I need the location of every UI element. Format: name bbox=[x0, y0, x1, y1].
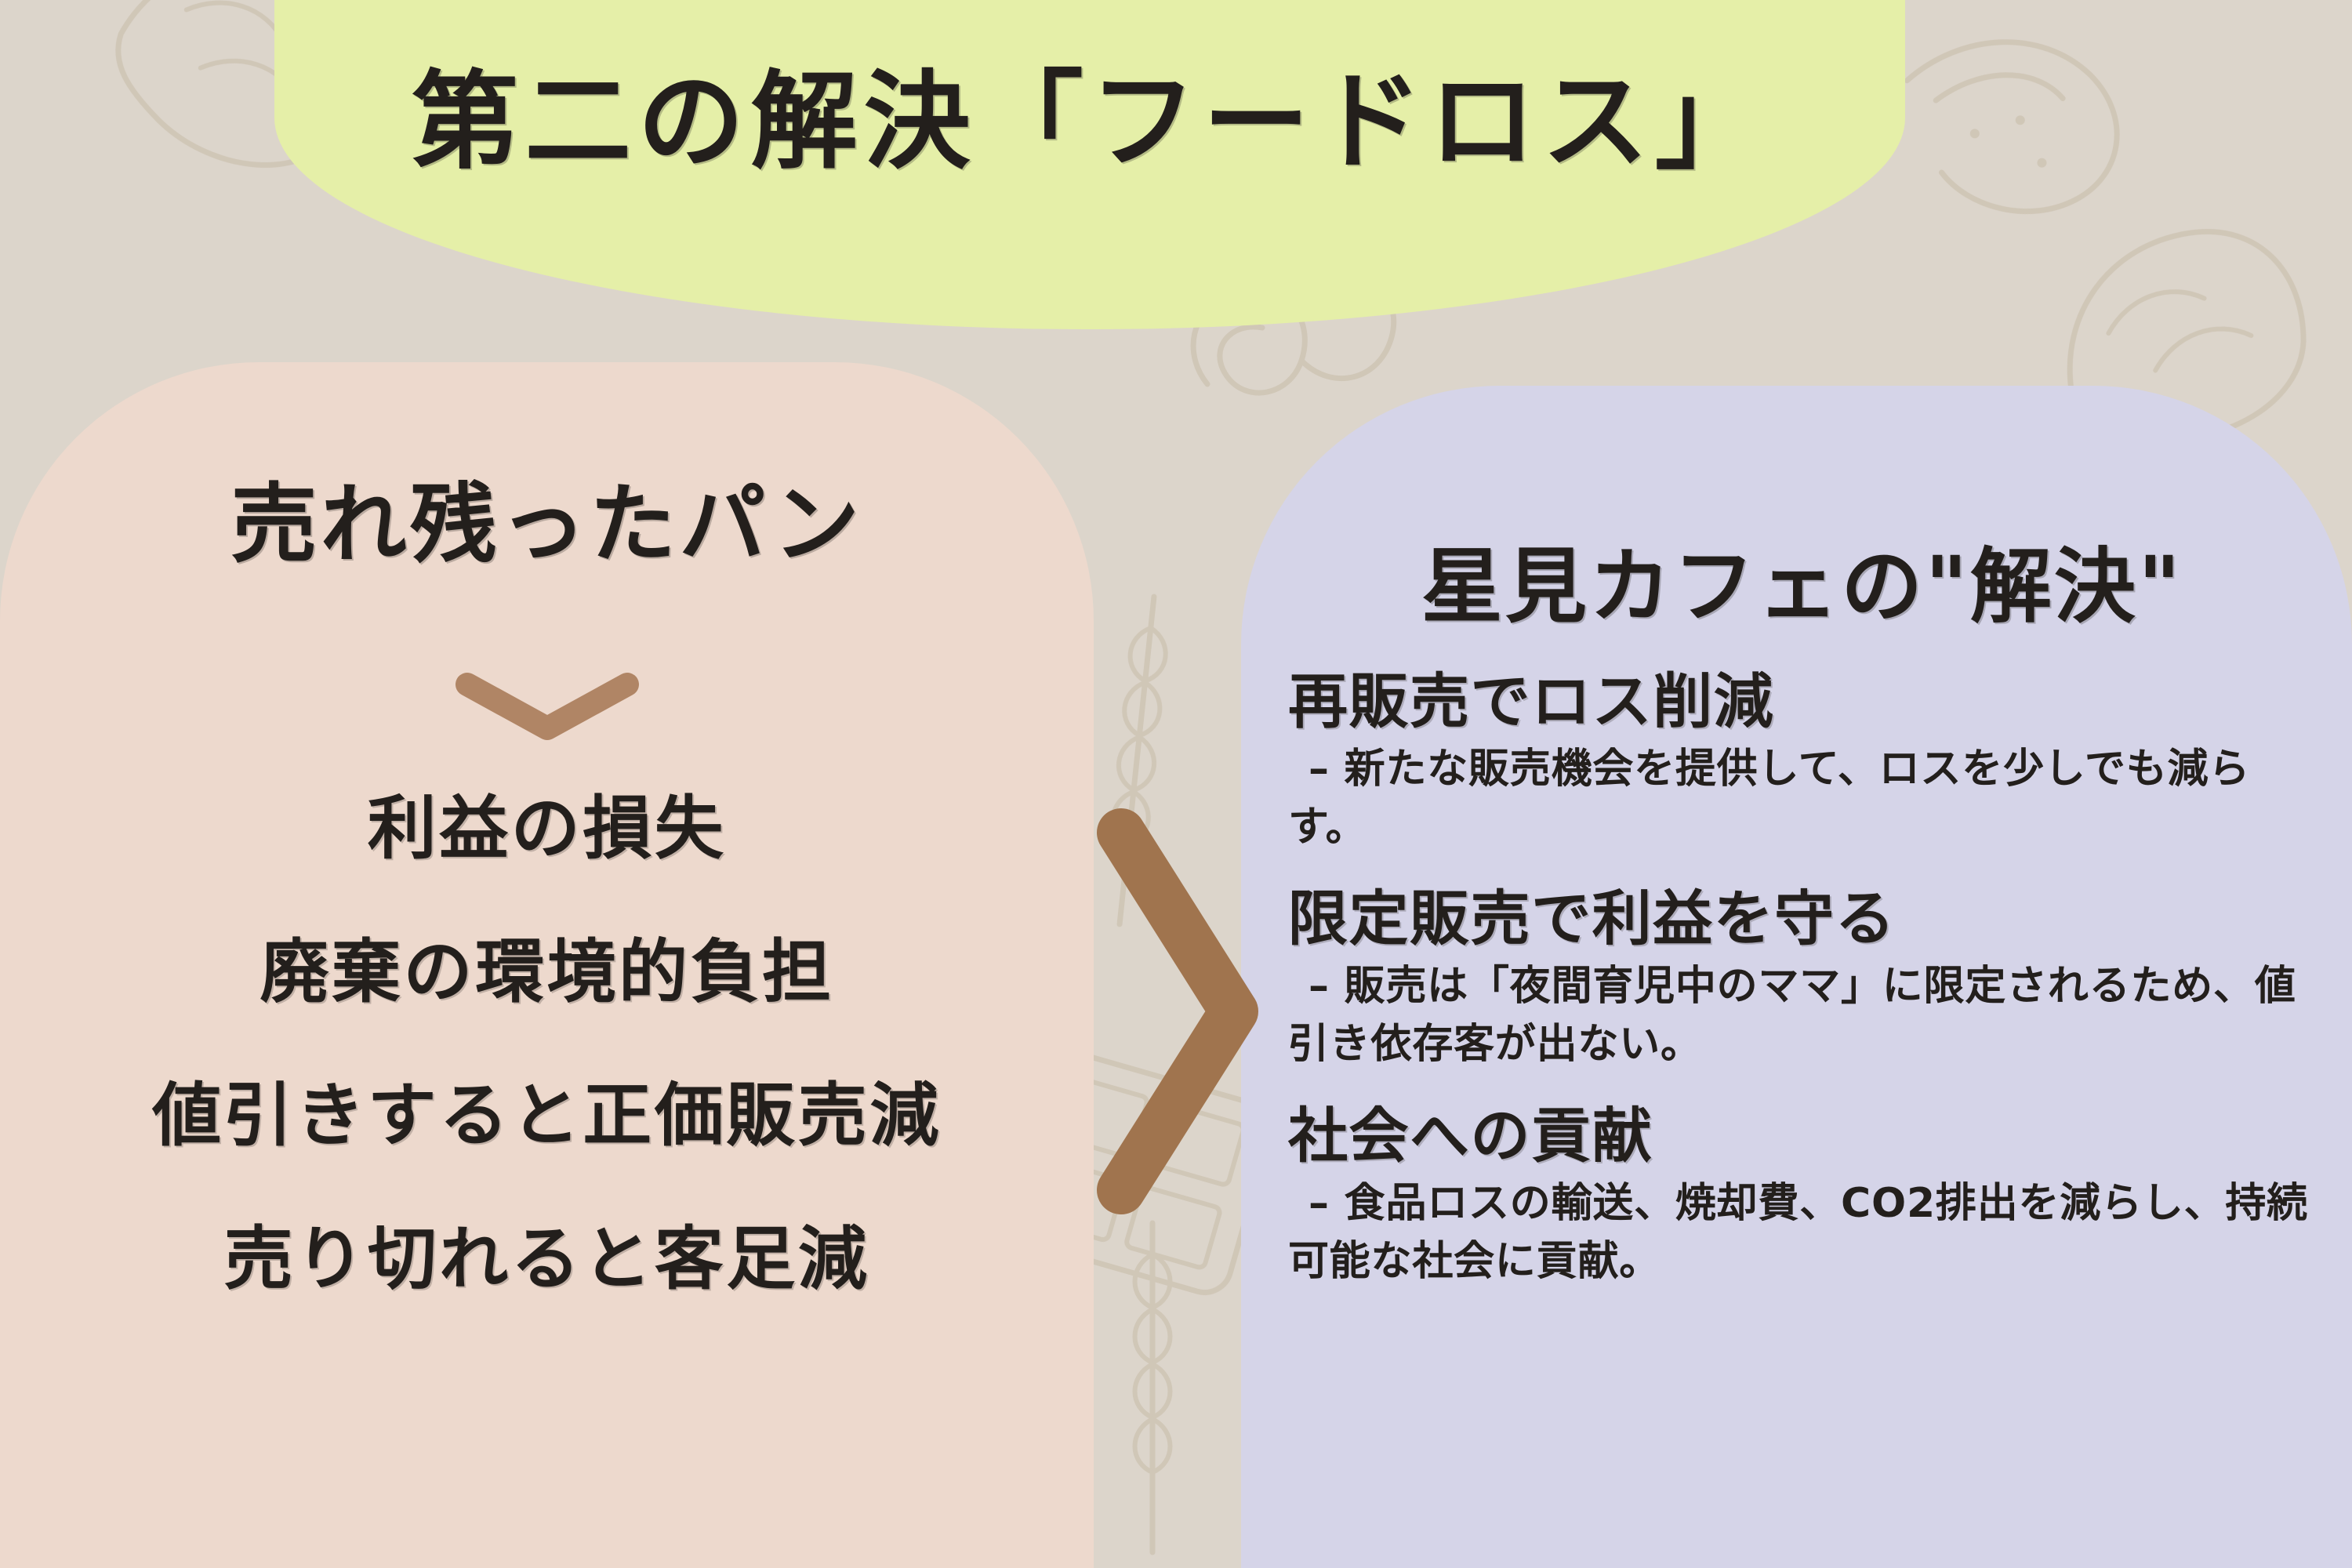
solution-description: – 販売は「夜間育児中のママ」に限定されるため、値引き依存客が出ない。 bbox=[1288, 958, 2316, 1074]
problem-list-item: 値引きすると正価販売減 bbox=[0, 1081, 1094, 1150]
solution-description: – 食品ロスの輸送、焼却費、CO2排出を減らし、持続可能な社会に貢献。 bbox=[1288, 1175, 2316, 1291]
chevron-down-icon bbox=[453, 670, 641, 742]
solution-title: 限定販売で利益を守る bbox=[1288, 885, 2316, 952]
solution-panel: 星見カフェの"解決" 再販売でロス削減 – 新たな販売機会を提供して、ロスを少し… bbox=[1241, 386, 2352, 1568]
title-banner: 第二の解決「フードロス」 bbox=[274, 0, 1905, 329]
solution-description: – 新たな販売機会を提供して、ロスを少しでも減らす。 bbox=[1288, 741, 2316, 857]
solution-title: 社会への貢献 bbox=[1288, 1102, 2316, 1169]
problem-list-item: 利益の損失 bbox=[0, 794, 1094, 863]
problem-panel: 売れ残ったパン 利益の損失 廃棄の環境的負担 値引きすると正価販売減 売り切れる… bbox=[0, 362, 1094, 1568]
page-title: 第二の解決「フードロス」 bbox=[412, 69, 1768, 329]
solution-block: 社会への貢献 – 食品ロスの輸送、焼却費、CO2排出を減らし、持続可能な社会に貢… bbox=[1288, 1102, 2316, 1291]
problem-list-item: 廃棄の環境的負担 bbox=[0, 938, 1094, 1007]
problem-panel-heading: 売れ残ったパン bbox=[230, 481, 862, 568]
problem-list: 利益の損失 廃棄の環境的負担 値引きすると正価販売減 売り切れると客足減 bbox=[0, 794, 1094, 1294]
chevron-right-icon bbox=[1080, 800, 1269, 1223]
solution-panel-heading: 星見カフェの"解決" bbox=[1288, 546, 2316, 627]
solution-block: 限定販売で利益を守る – 販売は「夜間育児中のママ」に限定されるため、値引き依存… bbox=[1288, 885, 2316, 1074]
problem-list-item: 売り切れると客足減 bbox=[0, 1225, 1094, 1294]
infographic-slide: 第二の解決「フードロス」 売れ残ったパン 利益の損失 廃棄の環境的負担 値引きす… bbox=[0, 0, 2352, 1568]
solution-block: 再販売でロス削減 – 新たな販売機会を提供して、ロスを少しでも減らす。 bbox=[1288, 668, 2316, 857]
solution-title: 再販売でロス削減 bbox=[1288, 668, 2316, 735]
